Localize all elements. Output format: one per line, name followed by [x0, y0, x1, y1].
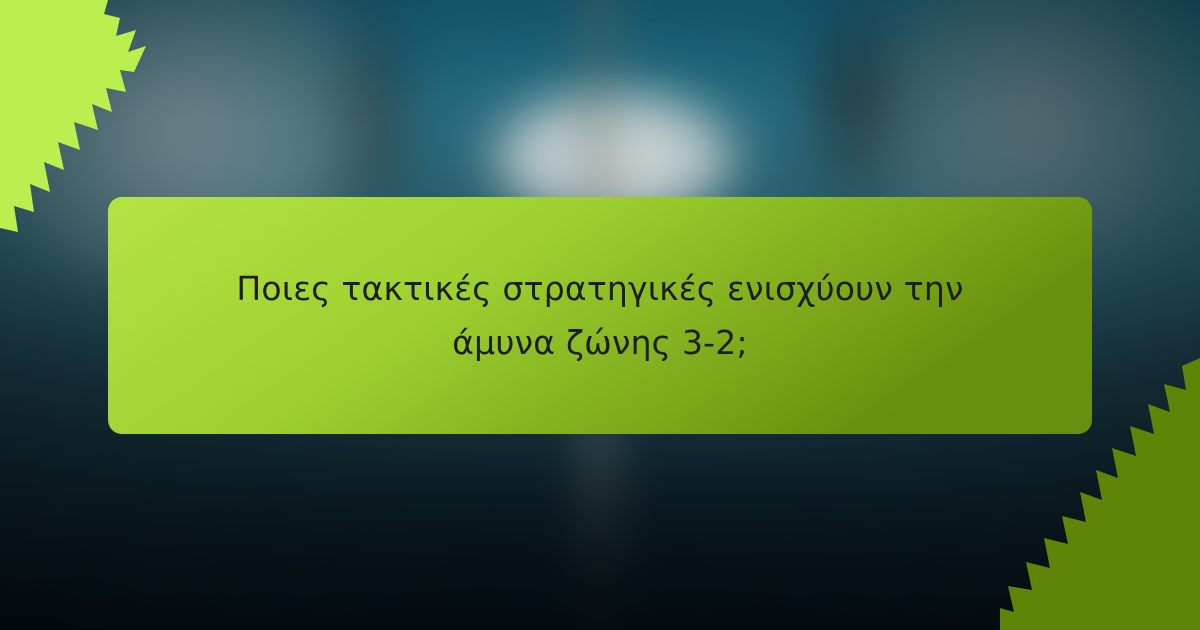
share-card-canvas: Ποιες τακτικές στρατηγικές ενισχύουν την…	[0, 0, 1200, 630]
question-ribbon-banner: Ποιες τακτικές στρατηγικές ενισχύουν την…	[108, 197, 1092, 434]
question-headline: Ποιες τακτικές στρατηγικές ενισχύουν την…	[220, 262, 980, 369]
